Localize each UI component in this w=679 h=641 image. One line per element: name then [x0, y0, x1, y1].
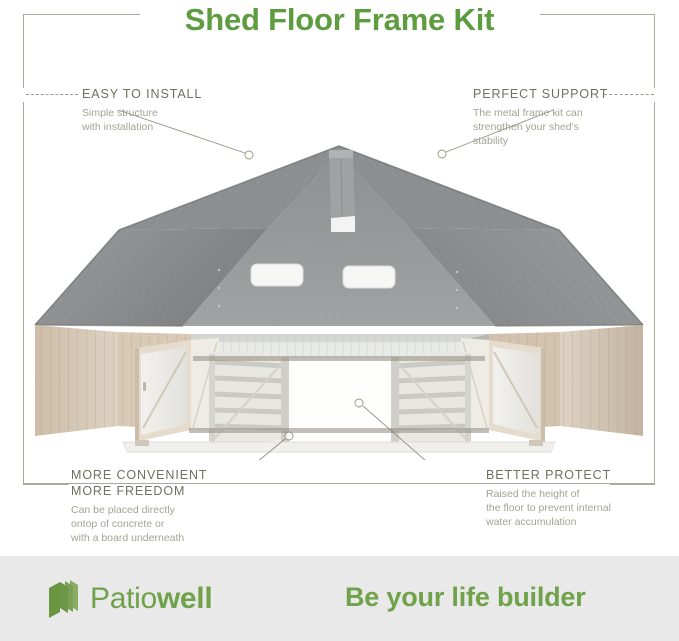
callout-heading: EASY TO INSTALL — [82, 86, 202, 102]
callout-body-line: with installation — [82, 120, 202, 134]
callout-body: Raised the height of the floor to preven… — [486, 487, 611, 529]
callout-body-line: stability — [473, 134, 608, 148]
frame-gap-right — [649, 88, 663, 102]
callout-more-convenient: MORE CONVENIENT MORE FREEDOM Can be plac… — [71, 467, 207, 545]
callout-body-line: strengthen your shed's — [473, 120, 608, 134]
callout-body-line: ontop of concrete or — [71, 517, 207, 531]
frame-gap-left — [18, 88, 30, 102]
leader-dash-perfect-support — [604, 94, 654, 95]
callout-better-protect: BETTER PROTECT Raised the height of the … — [486, 467, 611, 529]
callout-easy-install: EASY TO INSTALL Simple structure with in… — [82, 86, 202, 134]
page-title: Shed Floor Frame Kit — [0, 0, 679, 40]
callout-body-line: water accumulation — [486, 515, 611, 529]
callout-body-line: Raised the height of — [486, 487, 611, 501]
leader-bracket-better-protect — [610, 466, 655, 485]
callout-heading: PERFECT SUPPORT — [473, 86, 608, 102]
callout-body: The metal frame kit can strengthen your … — [473, 106, 608, 148]
callout-heading: BETTER PROTECT — [486, 467, 611, 483]
brand-wordmark: Patiowell — [90, 582, 212, 616]
callout-body-line: with a board underneath — [71, 531, 207, 545]
callout-body-line: The metal frame kit can — [473, 106, 608, 120]
leader-dash-easy-install — [26, 94, 78, 95]
callout-perfect-support: PERFECT SUPPORT The metal frame kit can … — [473, 86, 608, 148]
brand-wordmark-light: Patio — [90, 582, 157, 615]
callout-heading-second-line: MORE FREEDOM — [71, 483, 207, 499]
leader-bracket-more-convenient — [23, 466, 69, 485]
callout-body-line: Simple structure — [82, 106, 202, 120]
brand-wordmark-bold: well — [157, 582, 213, 615]
brand-lockup: Patiowell — [48, 574, 212, 624]
patiowell-logo-icon — [48, 578, 84, 620]
callout-body-line: the floor to prevent internal — [486, 501, 611, 515]
shed-illustration — [23, 110, 655, 460]
callout-body-line: Can be placed directly — [71, 503, 207, 517]
brand-footer: Patiowell Be your life builder — [0, 556, 679, 641]
callout-body: Can be placed directly ontop of concrete… — [71, 503, 207, 545]
callout-heading: MORE CONVENIENT — [71, 467, 207, 483]
brand-tagline: Be your life builder — [345, 580, 586, 614]
callout-body: Simple structure with installation — [82, 106, 202, 134]
